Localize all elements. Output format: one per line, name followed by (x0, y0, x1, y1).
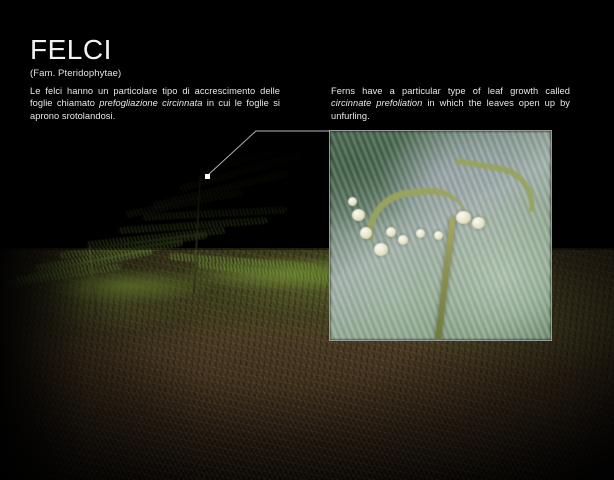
inset-crozier (398, 235, 408, 245)
english-text-part1: Ferns have a particular type of leaf gro… (331, 86, 570, 96)
inset-crozier (352, 209, 365, 221)
title-block: FELCI (Fam. Pteridophytae) (30, 36, 121, 79)
page-subtitle: (Fam. Pteridophytae) (30, 68, 121, 79)
inset-crozier (434, 231, 443, 240)
inset-crozier (360, 227, 372, 239)
inset-crozier (374, 243, 388, 256)
slide-canvas: FELCI (Fam. Pteridophytae) Le felci hann… (0, 0, 614, 480)
inset-crozier (348, 197, 357, 206)
italian-description: Le felci hanno un particolare tipo di ac… (30, 85, 280, 122)
page-title: FELCI (30, 36, 121, 64)
inset-crozier (456, 211, 471, 224)
english-term-emphasis: circinnate prefoliation (331, 98, 422, 108)
callout-marker-icon (205, 174, 210, 179)
inset-crozier (386, 227, 396, 237)
english-description: Ferns have a particular type of leaf gro… (331, 85, 570, 122)
inset-crozier (472, 217, 485, 229)
inset-detail-photo (329, 130, 552, 341)
inset-crozier (416, 229, 425, 238)
italian-term-emphasis: prefogliazione circinnata (99, 98, 202, 108)
